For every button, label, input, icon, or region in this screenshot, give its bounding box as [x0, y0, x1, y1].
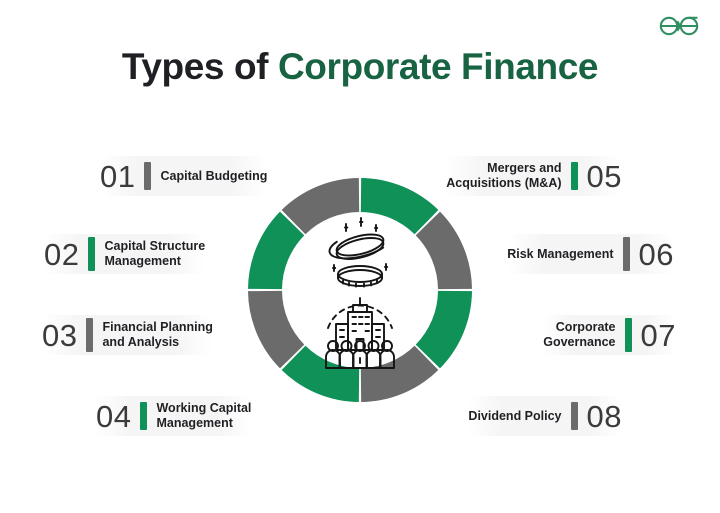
item-accent-bar	[144, 162, 151, 190]
item-label: Risk Management	[507, 247, 613, 262]
page-title: Types of Corporate Finance	[0, 46, 720, 88]
item-accent-bar	[571, 402, 578, 430]
list-item-06[interactable]: Risk Management 06	[507, 234, 674, 274]
item-number: 02	[44, 239, 79, 270]
item-label: Mergers and Acquisitions (M&A)	[446, 161, 561, 191]
item-number: 05	[587, 161, 622, 192]
list-item-08[interactable]: Dividend Policy 08	[468, 396, 622, 436]
item-number: 07	[641, 320, 676, 351]
item-number: 01	[100, 161, 135, 192]
item-accent-bar	[571, 162, 578, 190]
list-item-03[interactable]: 03 Financial Planning and Analysis	[42, 315, 213, 355]
item-accent-bar	[140, 402, 147, 430]
list-item-01[interactable]: 01 Capital Budgeting	[100, 156, 267, 196]
item-number: 03	[42, 320, 77, 351]
item-label: Dividend Policy	[468, 409, 561, 424]
item-label: Financial Planning and Analysis	[102, 320, 212, 350]
geeksforgeeks-logo	[652, 12, 706, 40]
list-item-02[interactable]: 02 Capital Structure Management	[44, 234, 205, 274]
item-label: Capital Budgeting	[160, 169, 267, 184]
item-accent-bar	[88, 237, 95, 271]
infographic-canvas: Types of Corporate Finance	[0, 0, 720, 513]
item-accent-bar	[623, 237, 630, 271]
item-accent-bar	[625, 318, 632, 352]
coins-and-corporate-building-icon	[312, 212, 408, 370]
title-part-dark: Types of	[122, 46, 278, 87]
item-label: Capital Structure Management	[104, 239, 205, 269]
item-number: 04	[96, 401, 131, 432]
item-label: Working Capital Management	[156, 401, 251, 431]
item-accent-bar	[86, 318, 93, 352]
title-part-green: Corporate Finance	[278, 46, 598, 87]
item-number: 08	[587, 401, 622, 432]
list-item-04[interactable]: 04 Working Capital Management	[96, 396, 251, 436]
list-item-05[interactable]: Mergers and Acquisitions (M&A) 05	[446, 156, 622, 196]
item-number: 06	[639, 239, 674, 270]
item-label: Corporate Governance	[543, 320, 615, 350]
list-item-07[interactable]: Corporate Governance 07	[543, 315, 676, 355]
